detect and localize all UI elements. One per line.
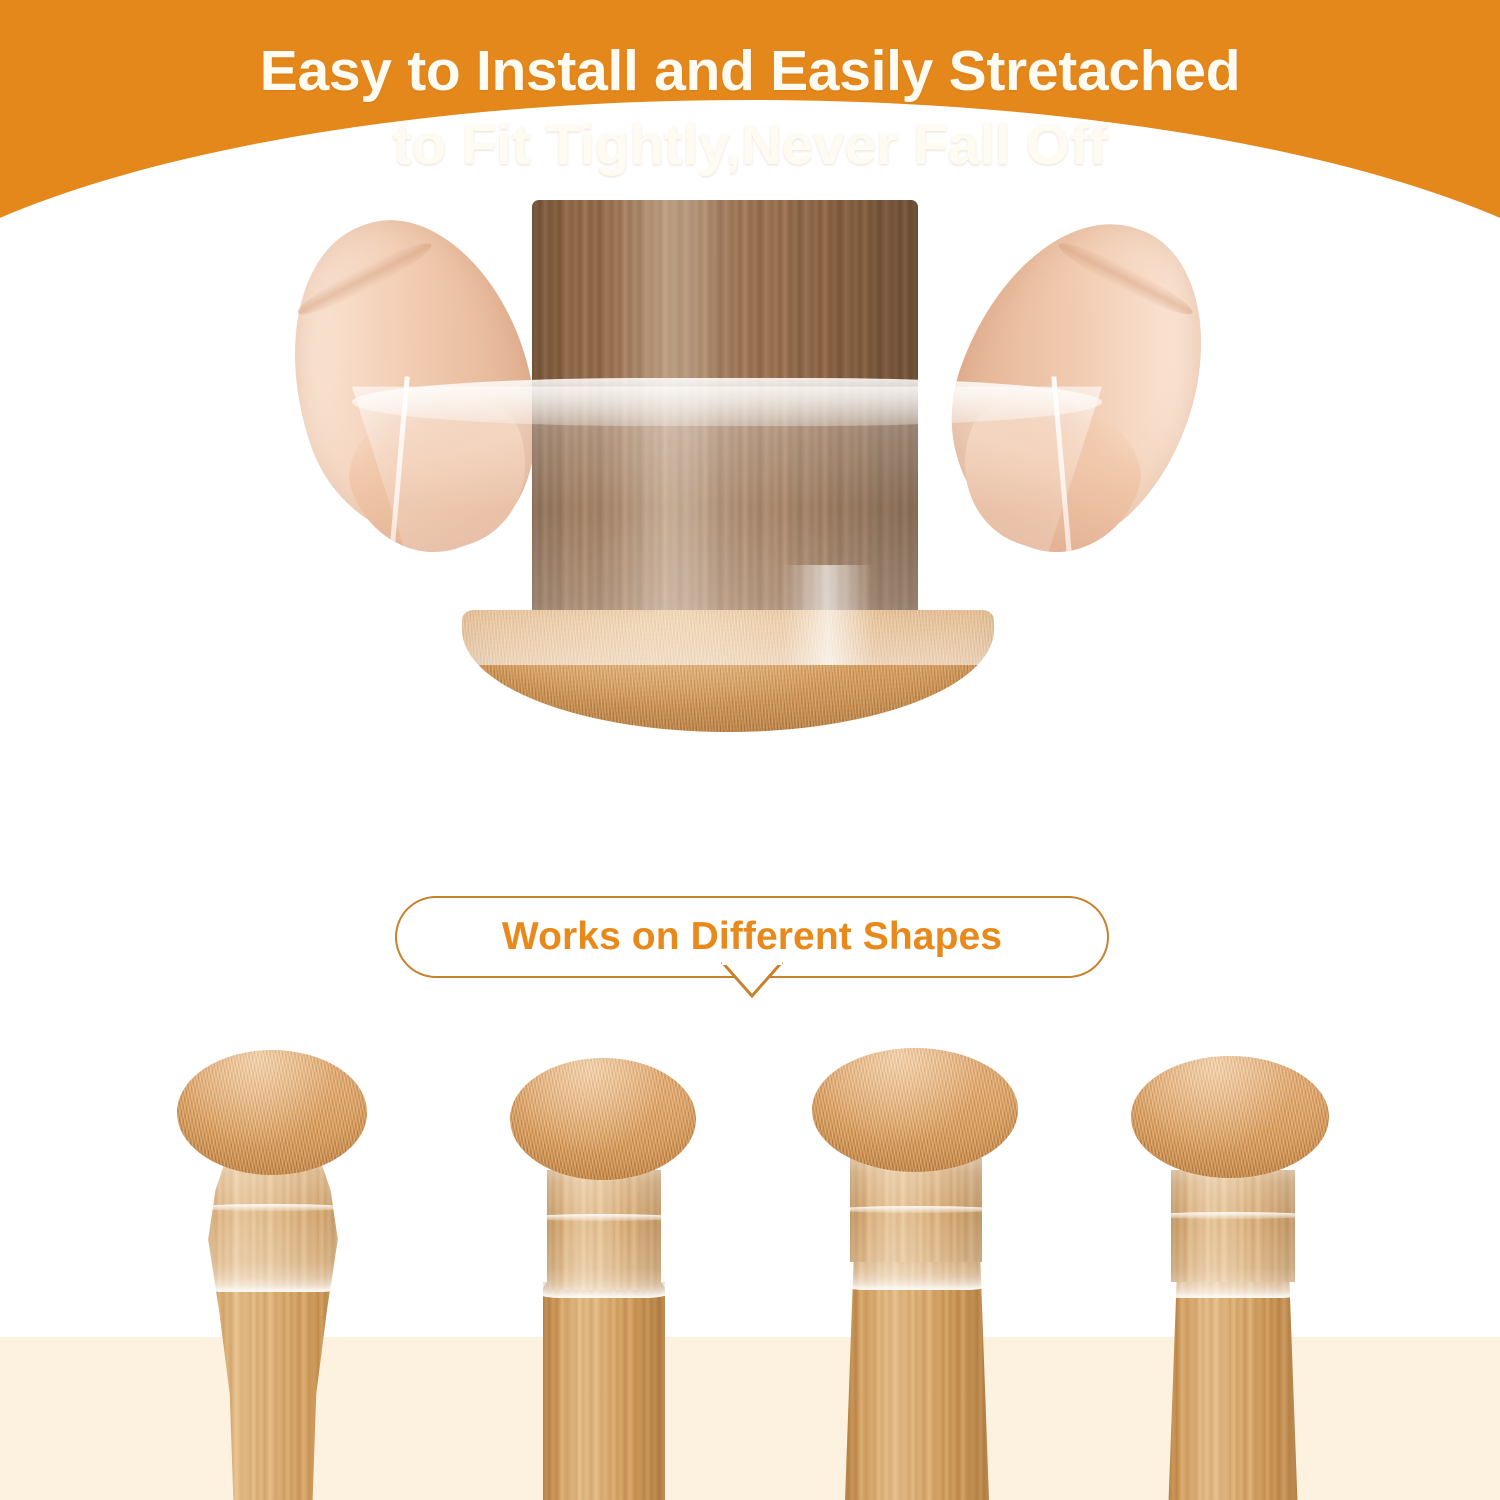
leg-3-felt-pad xyxy=(812,1048,1018,1172)
leg-2-felt-pad xyxy=(510,1058,696,1180)
leg-4-felt-pad xyxy=(1131,1056,1329,1178)
product-feature-image: Easy to Install and Easily Stretached to… xyxy=(0,0,1500,1500)
thumb-crease xyxy=(1054,235,1198,323)
callout-badge-label: Works on Different Shapes xyxy=(502,915,1002,959)
leg-1-carved-turned xyxy=(155,1030,390,1500)
leg-3-cup-band xyxy=(834,1206,999,1213)
page-title: Easy to Install and Easily Stretached to… xyxy=(0,34,1500,182)
leg-1-cup-band xyxy=(192,1204,352,1211)
leg-2-round-straight xyxy=(485,1030,720,1500)
leg-4-wood-shaft xyxy=(1163,1270,1303,1500)
leg-4-cup-band xyxy=(1150,1212,1311,1219)
leg-2-wood-shaft xyxy=(543,1282,665,1500)
leg-3-felt-texture xyxy=(812,1048,1018,1172)
headline-line-1: Easy to Install and Easily Stretached xyxy=(0,34,1500,108)
leg-4-felt-texture xyxy=(1131,1056,1329,1178)
headline-line-2: to Fit Tightly,Never Fall Off xyxy=(0,108,1500,182)
leg-2-felt-texture xyxy=(510,1058,696,1180)
hero-installation-photo xyxy=(0,200,1500,820)
cap-top-rim xyxy=(352,378,1102,426)
leg-1-felt-pad xyxy=(177,1050,367,1175)
leg-2-cup-band xyxy=(527,1214,678,1221)
leg-3-wide-square xyxy=(790,1030,1040,1500)
thumb-crease xyxy=(293,235,437,323)
leg-shapes-row xyxy=(0,1030,1500,1500)
callout-badge-pointer-icon xyxy=(720,960,784,1000)
leg-2-cup-left-highlight xyxy=(515,1156,531,1290)
leg-2-cup-right-highlight xyxy=(675,1156,691,1290)
leg-1-felt-texture xyxy=(177,1050,367,1175)
leg-4-tapered-round xyxy=(1105,1030,1355,1500)
callout-badge: Works on Different Shapes xyxy=(395,896,1109,1008)
